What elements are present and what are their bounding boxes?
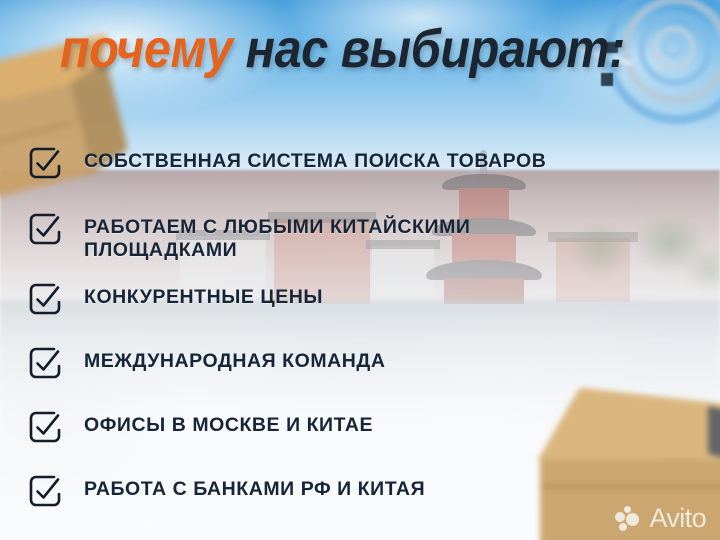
avito-dots-logo-icon [615, 506, 645, 532]
feature-item: МЕЖДУНАРОДНАЯ КОМАНДА [24, 342, 700, 384]
feature-item: РАБОТАЕМ С ЛЮБЫМИ КИТАЙСКИМИ ПЛОЩАДКАМИ [24, 208, 700, 262]
feature-label: РАБОТАЕМ С ЛЮБЫМИ КИТАЙСКИМИ ПЛОЩАДКАМИ [84, 208, 470, 262]
feature-item: КОНКУРЕНТНЫЕ ЦЕНЫ [24, 278, 700, 320]
checkbox-check-icon [24, 278, 66, 320]
feature-label: СОБСТВЕННАЯ СИСТЕМА ПОИСКА ТОВАРОВ [84, 142, 546, 173]
poster-headline: почему нас выбирают: [60, 22, 625, 76]
checkbox-check-icon [24, 470, 66, 512]
feature-label: МЕЖДУНАРОДНАЯ КОМАНДА [84, 342, 385, 373]
feature-label: КОНКУРЕНТНЫЕ ЦЕНЫ [84, 278, 323, 309]
feature-item: ОФИСЫ В МОСКВЕ И КИТАЕ [24, 406, 700, 448]
promo-poster: почему нас выбирают: СОБСТВЕННАЯ СИСТЕМА… [0, 0, 720, 540]
feature-label: РАБОТА С БАНКАМИ РФ И КИТАЯ [84, 470, 425, 501]
headline-highlight: почему [60, 19, 233, 79]
checkbox-check-icon [24, 342, 66, 384]
feature-item: РАБОТА С БАНКАМИ РФ И КИТАЯ [24, 470, 700, 512]
checkbox-check-icon [24, 208, 66, 250]
feature-list: СОБСТВЕННАЯ СИСТЕМА ПОИСКА ТОВАРОВ РАБОТ… [24, 142, 700, 512]
avito-watermark: Avito [615, 505, 706, 532]
avito-wordmark: Avito [649, 505, 706, 532]
checkbox-check-icon [24, 406, 66, 448]
feature-item: СОБСТВЕННАЯ СИСТЕМА ПОИСКА ТОВАРОВ [24, 142, 700, 184]
checkbox-check-icon [24, 142, 66, 184]
headline-rest: нас выбирают: [246, 19, 625, 79]
feature-label: ОФИСЫ В МОСКВЕ И КИТАЕ [84, 406, 373, 437]
